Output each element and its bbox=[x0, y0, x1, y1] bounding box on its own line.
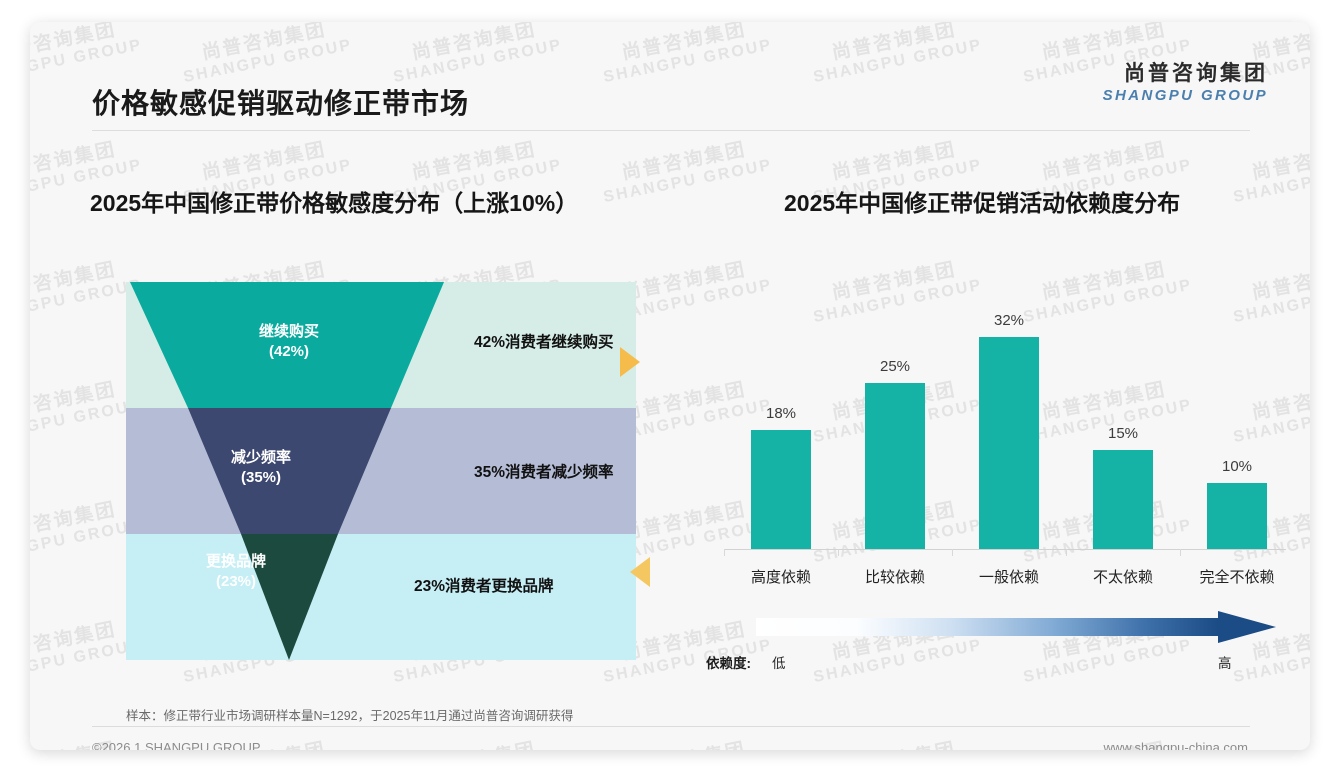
watermark-text-cn: 尚普咨询集团 bbox=[30, 616, 140, 669]
footer-copyright: ©2026.1 SHANGPU GROUP bbox=[92, 740, 261, 750]
footer-divider bbox=[92, 726, 1250, 727]
funnel-band-text-1: 35%消费者减少频率 bbox=[474, 460, 614, 482]
footer-website: www.shangpu-china.com bbox=[1103, 740, 1248, 750]
funnel-band-text-2: 23%消费者更换品牌 bbox=[414, 574, 554, 596]
gradient-arrow-icon bbox=[756, 610, 1276, 644]
play-left-triangle-icon bbox=[630, 557, 650, 587]
funnel-segment-label-0: 继续购买 (42%) bbox=[234, 322, 344, 363]
bar-category-label: 完全不依赖 bbox=[1180, 566, 1294, 587]
slide-header: 价格敏感促销驱动修正带市场 尚普咨询集团 SHANGPU GROUP bbox=[30, 22, 1310, 114]
funnel-segment-value-2: (23%) bbox=[216, 573, 256, 590]
bar-chart-plot-area: 18%25%32%15%10% bbox=[720, 284, 1290, 549]
watermark-tile: 尚普咨询集团SHANGPU GROUP bbox=[388, 736, 564, 750]
watermark-text-cn: 尚普咨询集团 bbox=[30, 496, 140, 549]
axis-tick bbox=[838, 549, 839, 556]
bar-rect[interactable] bbox=[1093, 450, 1153, 549]
bar-column[interactable]: 15% bbox=[1066, 284, 1180, 549]
legend-high-label: 高 bbox=[1218, 652, 1232, 672]
axis-tick bbox=[952, 549, 953, 556]
right-chart-title: 2025年中国修正带促销活动依赖度分布 bbox=[784, 184, 1180, 218]
slide-card: 尚普咨询集团SHANGPU GROUP尚普咨询集团SHANGPU GROUP尚普… bbox=[30, 22, 1310, 750]
bar-column[interactable]: 25% bbox=[838, 284, 952, 549]
brand-name-cn: 尚普咨询集团 bbox=[1103, 62, 1268, 86]
watermark-text-cn: 尚普咨询集团 bbox=[30, 256, 140, 309]
axis-tick bbox=[724, 549, 725, 556]
funnel-segment-name-2: 更换品牌 bbox=[206, 553, 266, 570]
watermark-text-cn: 尚普咨询集团 bbox=[808, 736, 980, 750]
brand-name-en: SHANGPU GROUP bbox=[1103, 88, 1268, 105]
bar-category-label: 高度依赖 bbox=[724, 566, 838, 587]
bar-value-label: 15% bbox=[1108, 425, 1138, 442]
bar-chart-x-axis bbox=[724, 549, 1286, 550]
watermark-tile: 尚普咨询集团SHANGPU GROUP bbox=[598, 736, 774, 750]
funnel-band-text-0: 42%消费者继续购买 bbox=[474, 330, 614, 352]
legend-low-label: 低 bbox=[772, 652, 786, 672]
bar-rect[interactable] bbox=[751, 430, 811, 549]
watermark-text-cn: 尚普咨询集团 bbox=[808, 136, 980, 189]
funnel-segment-value-1: (35%) bbox=[241, 469, 281, 486]
watermark-text-cn: 尚普咨询集团 bbox=[30, 136, 140, 189]
funnel-segment-label-2: 更换品牌 (23%) bbox=[181, 552, 291, 593]
bar-column[interactable]: 10% bbox=[1180, 284, 1294, 549]
bar-value-label: 18% bbox=[766, 405, 796, 422]
bar-column[interactable]: 32% bbox=[952, 284, 1066, 549]
watermark-text-cn: 尚普咨询集团 bbox=[1228, 136, 1310, 189]
page-title: 价格敏感促销驱动修正带市场 bbox=[92, 82, 469, 122]
watermark-text-cn: 尚普咨询集团 bbox=[1018, 136, 1190, 189]
funnel-segment-name-0: 继续购买 bbox=[259, 323, 319, 340]
bar-column[interactable]: 18% bbox=[724, 284, 838, 549]
funnel-segment-name-1: 减少频率 bbox=[231, 449, 291, 466]
bar-value-label: 10% bbox=[1222, 458, 1252, 475]
funnel-chart: 继续购买 (42%) 减少频率 (35%) 更换品牌 (23%) 42%消费者继… bbox=[126, 282, 636, 660]
bar-category-label: 比较依赖 bbox=[838, 566, 952, 587]
watermark-text-cn: 尚普咨询集团 bbox=[178, 136, 350, 189]
play-right-triangle-icon bbox=[620, 347, 640, 377]
header-divider bbox=[92, 130, 1250, 131]
watermark-text-cn: 尚普咨询集团 bbox=[598, 136, 770, 189]
funnel-segment-label-1: 减少频率 (35%) bbox=[206, 448, 316, 489]
bar-category-label: 不太依赖 bbox=[1066, 566, 1180, 587]
bar-chart: 18%25%32%15%10% 高度依赖比较依赖一般依赖不太依赖完全不依赖 bbox=[720, 284, 1290, 594]
source-note: 样本：修正带行业市场调研样本量N=1292，于2025年11月通过尚普咨询调研获… bbox=[126, 705, 573, 724]
funnel-segment-value-0: (42%) bbox=[269, 343, 309, 360]
brand-logo: 尚普咨询集团 SHANGPU GROUP bbox=[1103, 62, 1268, 104]
bar-value-label: 32% bbox=[994, 312, 1024, 329]
bar-rect[interactable] bbox=[865, 383, 925, 549]
left-chart-title: 2025年中国修正带价格敏感度分布（上涨10%） bbox=[90, 184, 578, 218]
axis-tick bbox=[1066, 549, 1067, 556]
dependency-gradient-legend: 依赖度: 低 高 bbox=[706, 610, 1286, 672]
watermark-text-cn: 尚普咨询集团 bbox=[598, 736, 770, 750]
watermark-text-en: SHANGPU GROUP bbox=[602, 156, 774, 206]
watermark-text-cn: 尚普咨询集团 bbox=[30, 376, 140, 429]
legend-title: 依赖度: bbox=[706, 652, 751, 672]
bar-value-label: 25% bbox=[880, 358, 910, 375]
watermark-tile: 尚普咨询集团SHANGPU GROUP bbox=[1228, 136, 1310, 206]
axis-tick bbox=[1180, 549, 1181, 556]
watermark-text-en: SHANGPU GROUP bbox=[1232, 156, 1310, 206]
watermark-tile: 尚普咨询集团SHANGPU GROUP bbox=[808, 736, 984, 750]
watermark-text-cn: 尚普咨询集团 bbox=[388, 736, 560, 750]
watermark-text-cn: 尚普咨询集团 bbox=[388, 136, 560, 189]
watermark-tile: 尚普咨询集团SHANGPU GROUP bbox=[598, 136, 774, 206]
bar-category-label: 一般依赖 bbox=[952, 566, 1066, 587]
bar-rect[interactable] bbox=[1207, 483, 1267, 549]
bar-rect[interactable] bbox=[979, 337, 1039, 549]
